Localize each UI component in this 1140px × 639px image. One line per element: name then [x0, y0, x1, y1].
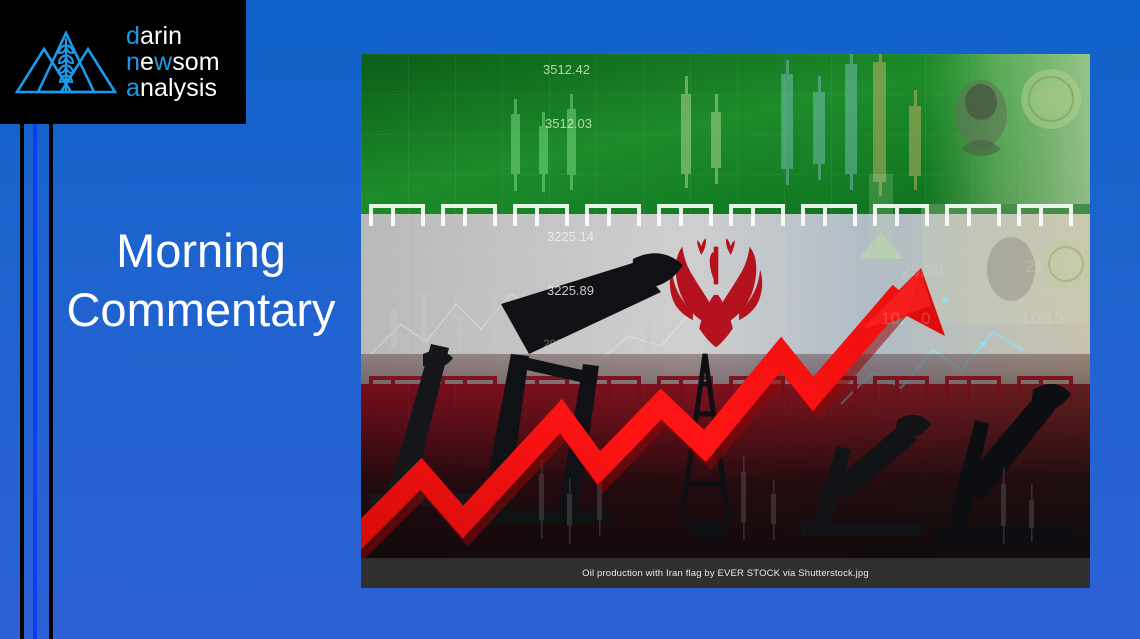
svg-text:0: 0 [921, 309, 930, 328]
wordmark-accent-n: n [126, 48, 140, 76]
wordmark-rest-e: e [140, 48, 154, 76]
hero-image-artwork: 25.89 10 0 10:10 21 [361, 54, 1090, 588]
page-title: Morning Commentary [56, 222, 346, 340]
wordmark-line-darin: darin [126, 23, 220, 49]
brand-logo-block[interactable]: darin newsom analysis [0, 0, 246, 124]
svg-text:25.89: 25.89 [901, 261, 944, 280]
hero-image: 25.89 10 0 10:10 21 3512.42 3512.03 3225… [361, 54, 1090, 588]
svg-text:21: 21 [1025, 257, 1044, 276]
image-caption-bar: Oil production with Iran flag by EVER ST… [361, 558, 1090, 588]
wordmark-line-newsom: newsom [126, 49, 220, 75]
three-mountains-wheat-icon [14, 20, 118, 104]
wordmark-accent-d: d [126, 22, 140, 50]
page-title-line-2: Commentary [56, 281, 346, 340]
brand-wordmark: darin newsom analysis [126, 23, 220, 101]
image-caption: Oil production with Iran flag by EVER ST… [582, 568, 869, 579]
accent-bar-black-right [49, 124, 53, 639]
wordmark-accent-w: w [154, 48, 172, 76]
svg-text:10:10: 10:10 [1021, 309, 1064, 328]
wordmark-rest-nalysis: nalysis [140, 74, 217, 102]
accent-bar-blue [33, 124, 37, 639]
wordmark-line-analysis: analysis [126, 75, 220, 101]
page-title-line-1: Morning [56, 222, 346, 281]
wordmark-rest-som: som [172, 48, 220, 76]
wordmark-accent-a: a [126, 74, 140, 102]
accent-bar-black-left [20, 124, 24, 639]
presentation-slide: darin newsom analysis Morning Commentary [0, 0, 1140, 639]
wordmark-rest-arin: arin [140, 22, 182, 50]
svg-text:10: 10 [881, 309, 900, 328]
